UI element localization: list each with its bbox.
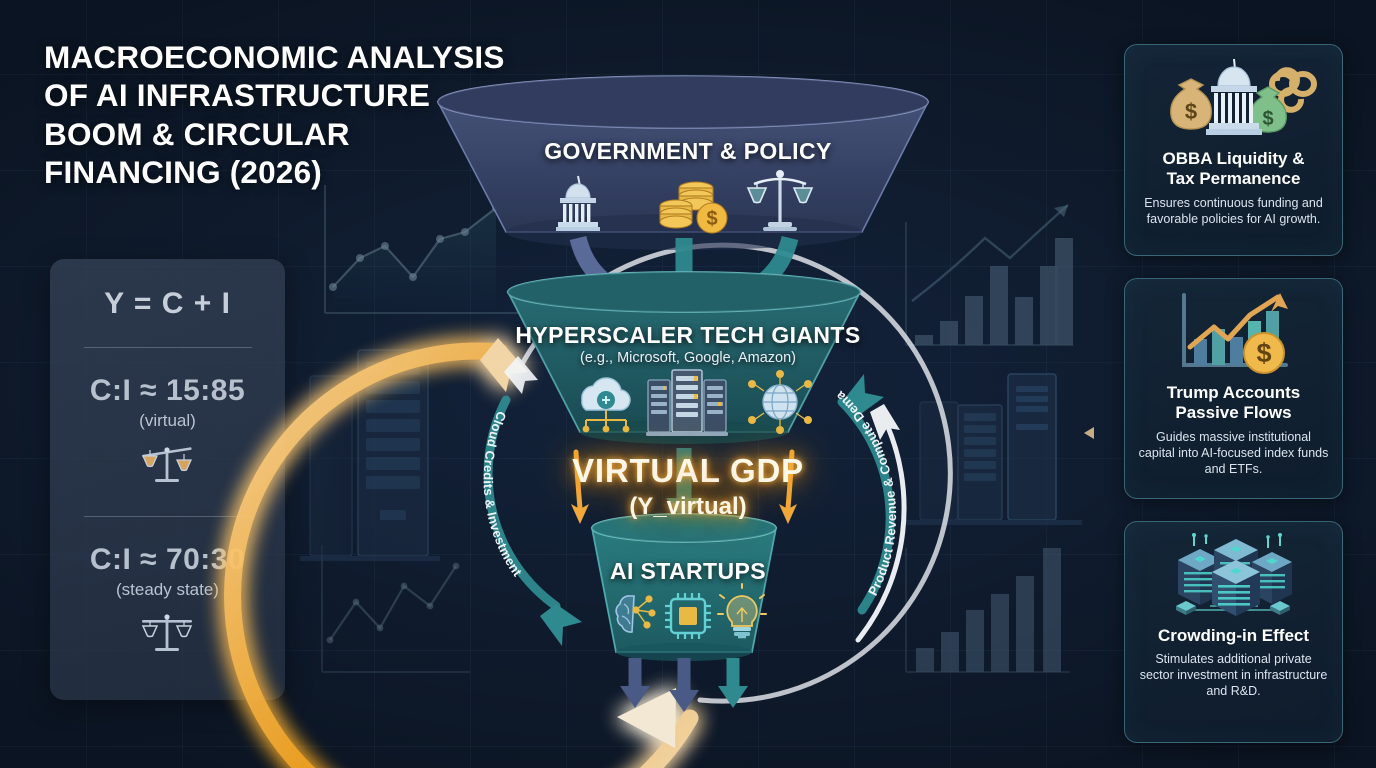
- chip-icon: [665, 593, 711, 639]
- card-desc-crowding-in: Stimulates additional private sector inv…: [1137, 651, 1330, 699]
- svg-text:$: $: [1256, 338, 1271, 368]
- server-front-center: [1212, 560, 1260, 616]
- moneybag-left: $: [1170, 79, 1210, 129]
- card-title-obba: OBBA Liquidity & Tax Permanence: [1163, 149, 1305, 190]
- info-card-trump-accounts[interactable]: $ Trump Accounts Passive Flows Guides ma…: [1124, 278, 1343, 499]
- growth-chart-dollar-icon: $: [1154, 289, 1314, 381]
- info-card-obba-liquidity[interactable]: $ $: [1124, 44, 1343, 256]
- lightbulb-icon: [718, 584, 766, 637]
- card-title-line-1: Trump Accounts: [1167, 383, 1301, 403]
- card-desc-obba: Ensures continuous funding and favorable…: [1137, 195, 1330, 227]
- scales-of-justice-icon: [748, 170, 812, 231]
- card-title-crowding-in: Crowding-in Effect: [1158, 626, 1309, 646]
- capitol-glyph: [1206, 59, 1262, 135]
- card-title-line-2: Tax Permanence: [1163, 169, 1305, 189]
- infographic-canvas: MACROECONOMIC ANALYSIS OF AI INFRASTRUCT…: [0, 0, 1376, 768]
- datacenter-servers-icon: [1150, 532, 1318, 624]
- svg-text:$: $: [1184, 99, 1196, 124]
- card-title-line-1: Crowding-in Effect: [1158, 626, 1309, 646]
- coin-stack-icon: $: [660, 182, 727, 233]
- capitol-building-icon: [556, 176, 600, 231]
- card-title-line-1: OBBA Liquidity &: [1163, 149, 1305, 169]
- capitol-moneybags-infinity-icon: $ $: [1149, 55, 1319, 147]
- server-rack-icon: [646, 370, 728, 436]
- svg-text:$: $: [1262, 108, 1273, 130]
- neural-brain-icon: [616, 595, 655, 632]
- svg-text:$: $: [706, 208, 717, 230]
- cloud-computing-icon: [582, 378, 630, 432]
- card-desc-trump-accounts: Guides massive institutional capital int…: [1137, 429, 1330, 477]
- card-title-trump-accounts: Trump Accounts Passive Flows: [1167, 383, 1301, 424]
- network-globe-icon: [748, 370, 812, 434]
- card-title-line-2: Passive Flows: [1167, 403, 1301, 423]
- info-card-crowding-in-effect[interactable]: Crowding-in Effect Stimulates additional…: [1124, 521, 1343, 743]
